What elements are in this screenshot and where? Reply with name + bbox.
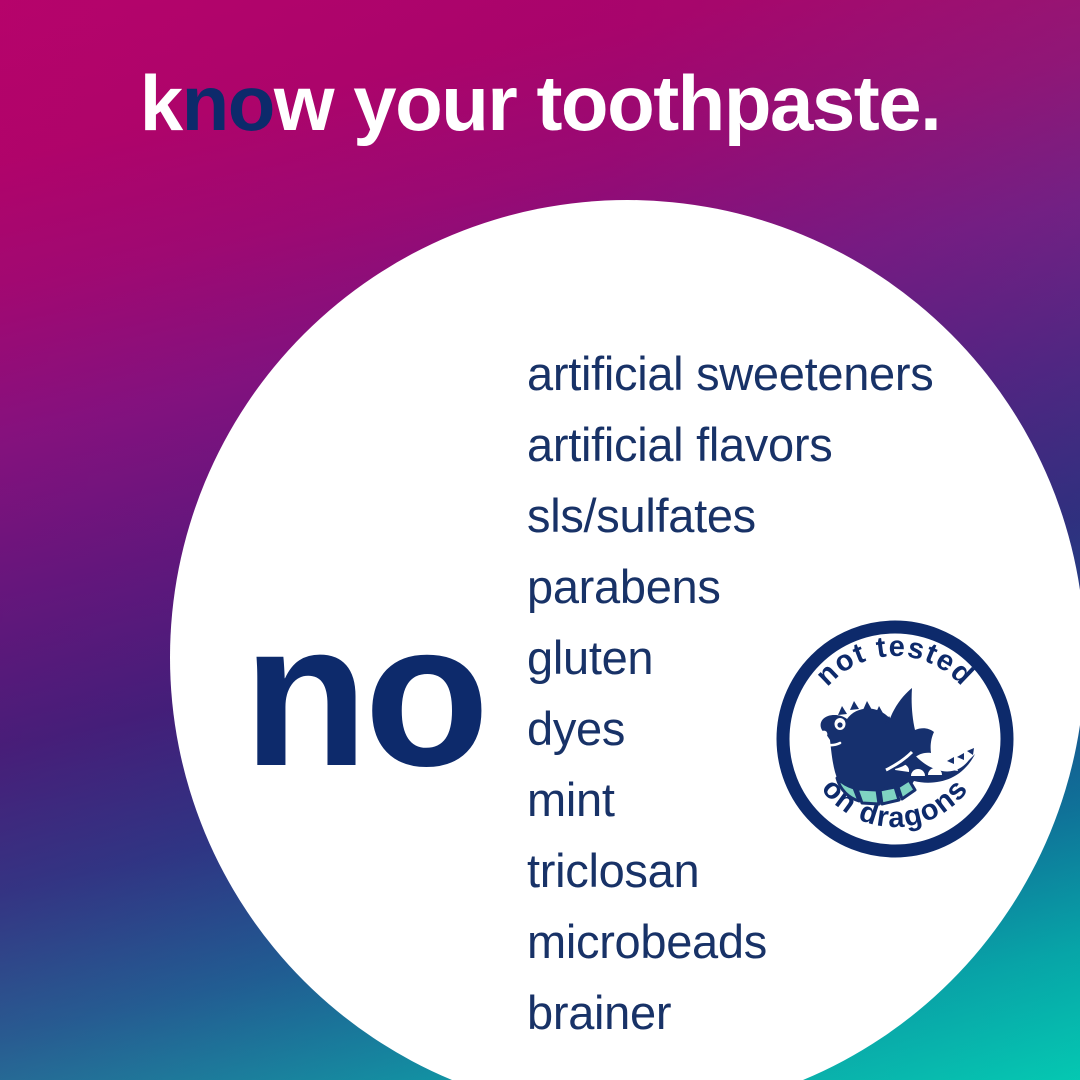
poster-canvas: know your toothpaste. no artificial swee… (0, 0, 1080, 1080)
page-title: know your toothpaste. (0, 64, 1080, 142)
list-item: sls/sulfates (527, 480, 933, 551)
headline-part-two: w your toothpaste. (274, 59, 940, 147)
list-item: artificial sweeteners (527, 338, 933, 409)
not-tested-on-dragons-badge: not tested on dragons (774, 618, 1016, 860)
headline-part-one: k (140, 59, 182, 147)
list-item: parabens (527, 551, 933, 622)
list-item: microbeads (527, 906, 933, 977)
list-item: artificial flavors (527, 409, 933, 480)
headline-highlight-no: no (182, 59, 274, 147)
list-item: brainer (527, 977, 933, 1048)
callout-no: no (243, 592, 485, 797)
